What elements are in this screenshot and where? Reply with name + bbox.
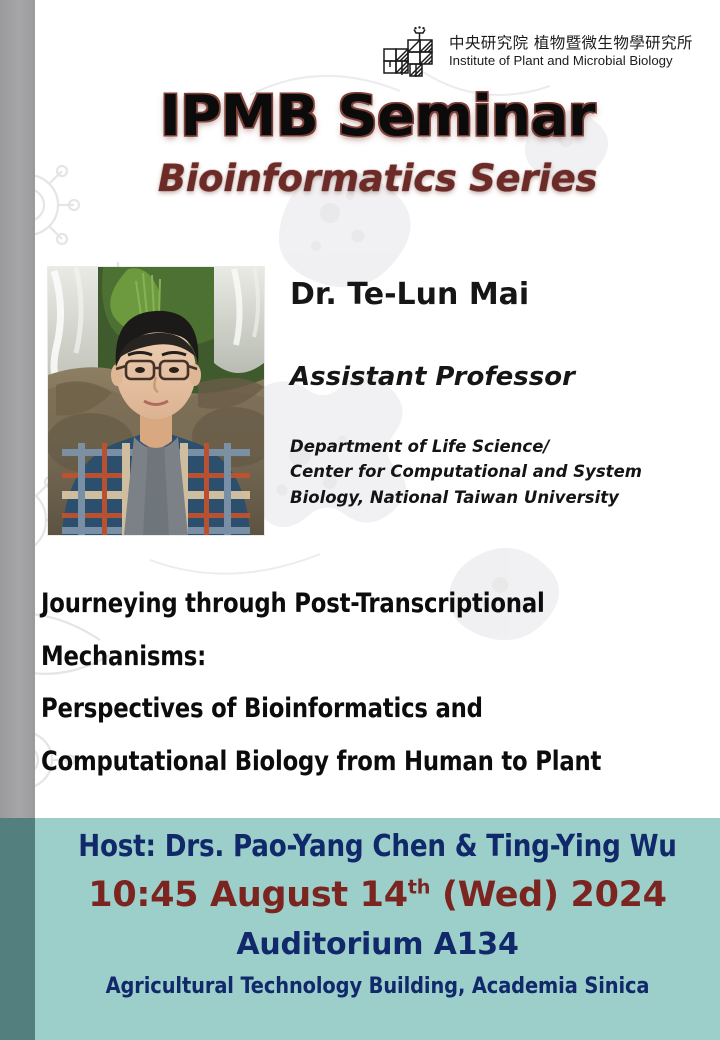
affiliation-line-2: Center for Computational and System xyxy=(290,459,700,485)
seminar-poster: 中央研究院 植物暨微生物學研究所 Institute of Plant and … xyxy=(0,0,720,1040)
event-room: Auditorium A134 xyxy=(35,927,720,962)
talk-title-line-1: Journeying through Post-Transcriptional xyxy=(41,578,683,631)
speaker-photo xyxy=(48,267,264,535)
poster-title-block: IPMB Seminar Bioinformatics Series xyxy=(35,88,720,200)
speaker-rank: Assistant Professor xyxy=(290,363,700,392)
talk-title-line-3: Perspectives of Bioinformatics and xyxy=(41,683,683,736)
speaker-info: Dr. Te-Lun Mai Assistant Professor Depar… xyxy=(290,278,700,510)
talk-title-line-4: Computational Biology from Human to Plan… xyxy=(41,736,683,789)
date-rest: (Wed) 2024 xyxy=(430,875,667,915)
speaker-name: Dr. Te-Lun Mai xyxy=(290,278,700,311)
poster-subtitle: Bioinformatics Series xyxy=(35,157,720,200)
affiliation-line-1: Department of Life Science/ xyxy=(290,434,700,460)
left-gray-strip xyxy=(0,0,35,818)
date-prefix: 10:45 August 14 xyxy=(88,875,408,915)
poster-main-title: IPMB Seminar xyxy=(35,88,720,145)
institute-header: 中央研究院 植物暨微生物學研究所 Institute of Plant and … xyxy=(378,24,698,80)
event-datetime: 10:45 August 14th (Wed) 2024 xyxy=(35,875,720,915)
speaker-portrait-image xyxy=(48,267,264,535)
ipmb-grid-plant-logo-icon xyxy=(378,26,440,78)
institute-name-english: Institute of Plant and Microbial Biology xyxy=(449,53,693,70)
left-teal-strip xyxy=(0,818,35,1040)
event-details-footer: Host: Drs. Pao-Yang Chen & Ting-Ying Wu … xyxy=(35,818,720,1040)
institute-name-chinese: 中央研究院 植物暨微生物學研究所 xyxy=(449,34,693,53)
speaker-affiliation: Department of Life Science/ Center for C… xyxy=(290,434,700,511)
affiliation-line-3: Biology, National Taiwan University xyxy=(290,485,700,511)
seminar-talk-title: Journeying through Post-Transcriptional … xyxy=(41,578,713,789)
host-line: Host: Drs. Pao-Yang Chen & Ting-Ying Wu xyxy=(45,818,709,864)
date-ordinal-suffix: th xyxy=(408,875,430,898)
event-building: Agricultural Technology Building, Academ… xyxy=(42,974,713,999)
talk-title-line-2: Mechanisms: xyxy=(41,631,683,684)
